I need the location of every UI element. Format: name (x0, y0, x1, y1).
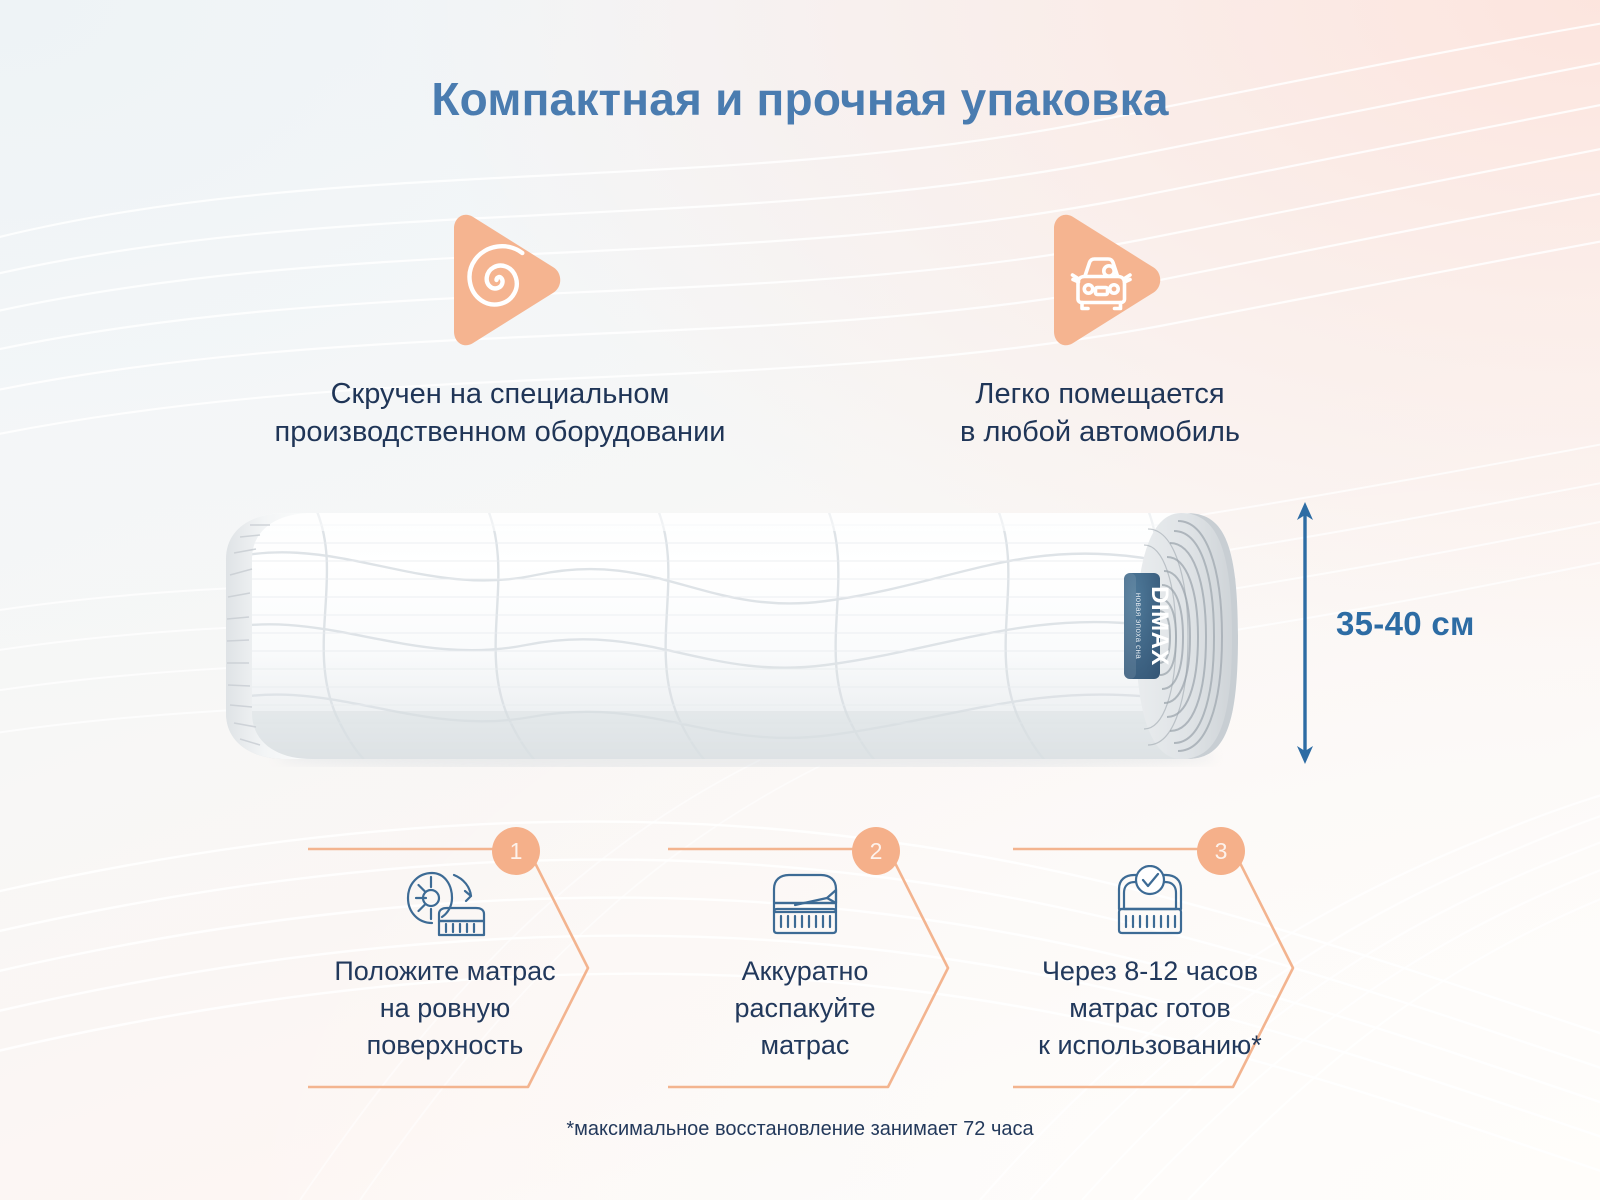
feature-block-car: Легко помещается в любой автомобиль (880, 200, 1320, 451)
steps-section: 1 Положите матрас на ровную поверхность (0, 843, 1600, 1093)
vertical-double-arrow-icon (1288, 500, 1322, 766)
feature-text-line2: в любой автомобиль (880, 414, 1320, 452)
svg-text:DIMAX: DIMAX (1146, 586, 1173, 666)
step-label: Аккуратно распакуйте матрас (660, 953, 950, 1064)
step-label-line1: Через 8-12 часов (1005, 953, 1295, 990)
step-label-line3: поверхность (300, 1027, 590, 1064)
feature-icon-wrap (240, 200, 760, 360)
brand-tag: DIMAX новая эпоха сна (1124, 573, 1173, 679)
step-item-1: 1 Положите матрас на ровную поверхность (300, 843, 590, 1093)
step-label-line1: Аккуратно (660, 953, 950, 990)
step-item-2: 2 Аккуратно распакуйте матрас (660, 843, 950, 1093)
car-icon (1025, 205, 1175, 355)
svg-text:новая эпоха сна: новая эпоха сна (1134, 593, 1143, 659)
feature-text: Легко помещается в любой автомобиль (880, 376, 1320, 451)
dimension-label: 35-40 см (1336, 605, 1576, 643)
mattress-unpack-icon (660, 865, 950, 943)
step-label: Через 8-12 часов матрас готов к использо… (1005, 953, 1295, 1064)
step-label-line3: к использованию* (1005, 1027, 1295, 1064)
page-title: Компактная и прочная упаковка (0, 72, 1600, 126)
step-label-line3: матрас (660, 1027, 950, 1064)
mattress-check-icon (1005, 865, 1295, 943)
feature-text-line1: Скручен на специальном (240, 376, 760, 414)
step-label-line2: распакуйте (660, 990, 950, 1027)
step-label-line2: на ровную (300, 990, 590, 1027)
feature-block-rolled: Скручен на специальном производственном … (240, 200, 760, 451)
step-label: Положите матрас на ровную поверхность (300, 953, 590, 1064)
feature-text-line1: Легко помещается (880, 376, 1320, 414)
step-label-line1: Положите матрас (300, 953, 590, 990)
promo-banner: Компактная и прочная упаковка Скручен на… (0, 0, 1600, 1200)
feature-icon-wrap (880, 200, 1320, 360)
footnote: *максимальное восстановление занимает 72… (0, 1118, 1600, 1141)
step-label-line2: матрас готов (1005, 990, 1295, 1027)
step-item-3: 3 Через 8-12 часов матрас готов к исполь… (1005, 843, 1295, 1093)
feature-text-line2: производственном оборудовании (240, 414, 760, 452)
rolled-mattress-unroll-icon (300, 865, 590, 943)
spiral-roll-icon (425, 205, 575, 355)
feature-text: Скручен на специальном производственном … (240, 376, 760, 451)
rolled-mattress-image: DIMAX новая эпоха сна (186, 505, 1261, 767)
